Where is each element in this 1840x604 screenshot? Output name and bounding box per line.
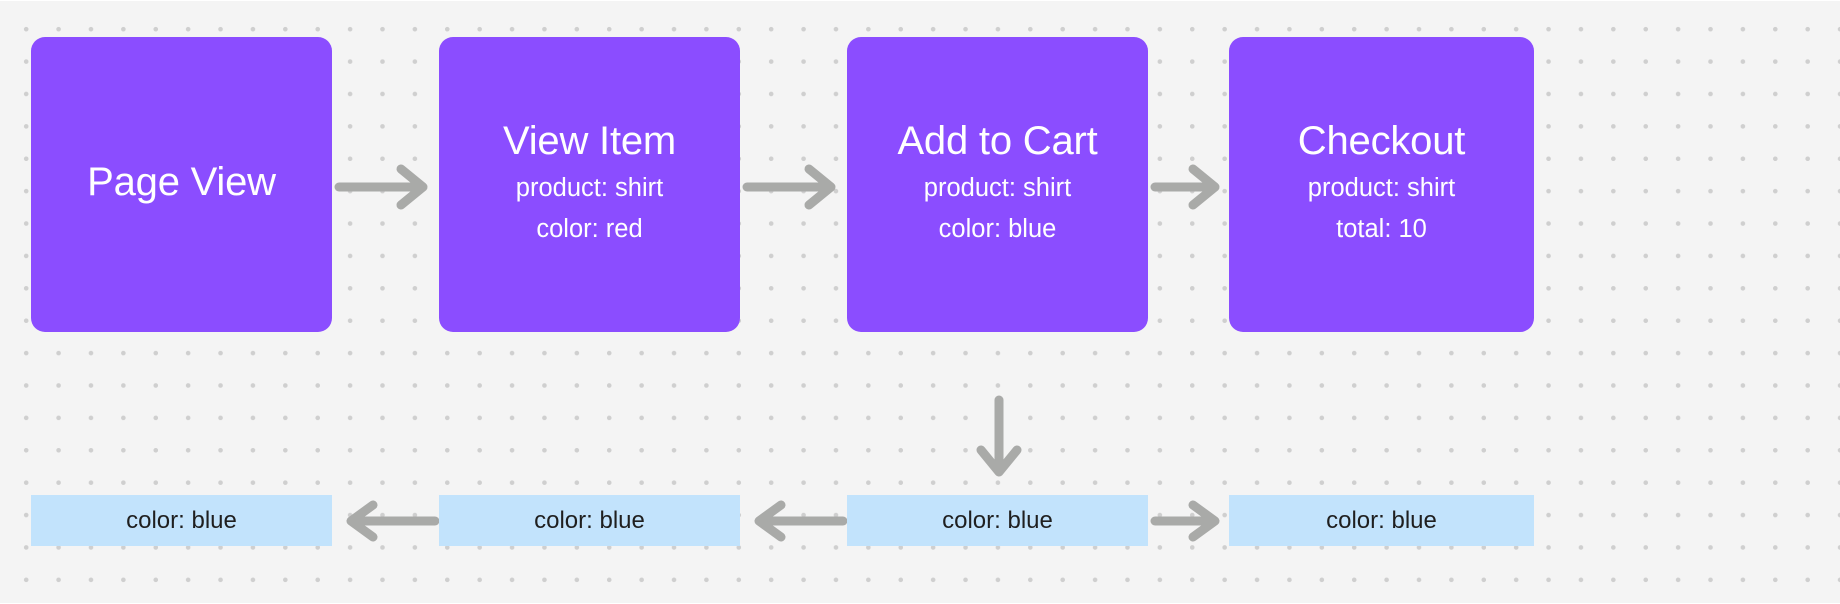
property-box[interactable]: color: blue (847, 495, 1148, 546)
arrow-left-icon (745, 504, 845, 538)
event-node-add-to-cart[interactable]: Add to Cart product: shirt color: blue (847, 37, 1148, 332)
event-node-property: color: blue (939, 209, 1057, 250)
event-node-title: Page View (87, 160, 276, 205)
event-node-property: product: shirt (924, 168, 1071, 209)
property-box-label: color: blue (126, 509, 237, 533)
event-node-title: Checkout (1298, 119, 1465, 164)
property-box-label: color: blue (1326, 509, 1437, 533)
event-node-property: color: red (536, 209, 642, 250)
property-box[interactable]: color: blue (1229, 495, 1534, 546)
event-node-property: total: 10 (1336, 209, 1427, 250)
event-node-properties: product: shirt color: red (516, 168, 663, 250)
arrow-left-icon (337, 504, 437, 538)
event-node-view-item[interactable]: View Item product: shirt color: red (439, 37, 740, 332)
arrow-right-icon (1153, 167, 1229, 207)
event-node-page-view[interactable]: Page View (31, 37, 332, 332)
event-node-title: Add to Cart (897, 119, 1097, 164)
event-node-title: View Item (503, 119, 676, 164)
event-node-properties: product: shirt color: blue (924, 168, 1071, 250)
property-box-label: color: blue (534, 509, 645, 533)
event-node-checkout[interactable]: Checkout product: shirt total: 10 (1229, 37, 1534, 332)
event-node-property: product: shirt (516, 168, 663, 209)
flow-diagram-canvas: Page View View Item product: shirt color… (0, 0, 1840, 604)
arrow-right-icon (337, 167, 437, 207)
property-box-label: color: blue (942, 509, 1053, 533)
event-node-properties: product: shirt total: 10 (1308, 168, 1455, 250)
property-box[interactable]: color: blue (31, 495, 332, 546)
property-box[interactable]: color: blue (439, 495, 740, 546)
event-node-property: product: shirt (1308, 168, 1455, 209)
arrow-down-icon (975, 396, 1023, 488)
arrow-right-icon (745, 167, 845, 207)
arrow-right-icon (1153, 504, 1229, 538)
